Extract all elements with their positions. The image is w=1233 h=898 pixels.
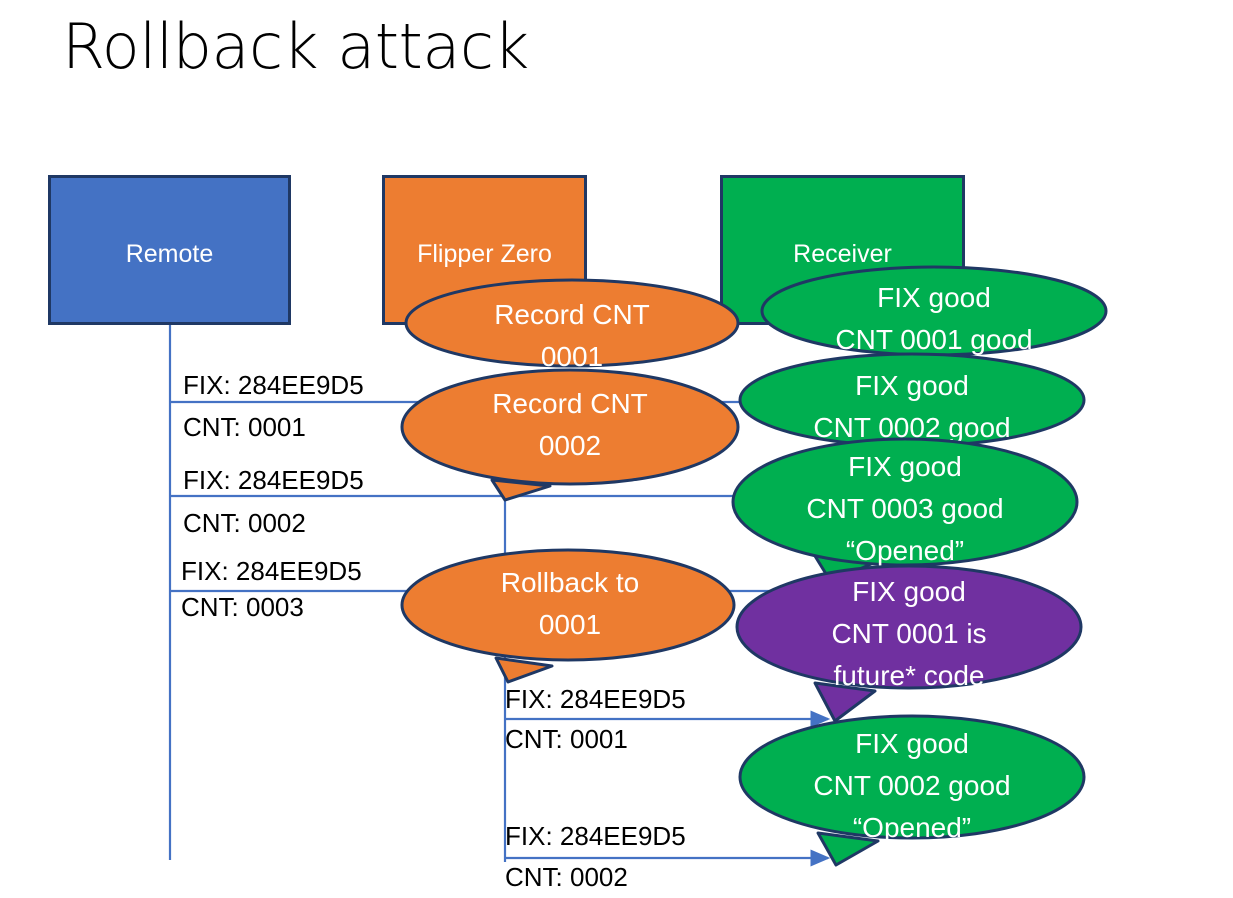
tx2-fix-label: FIX: 284EE9D5 xyxy=(183,465,364,496)
tx2-cnt-label: CNT: 0002 xyxy=(183,508,306,539)
tx4-cnt-label: CNT: 0001 xyxy=(505,724,628,755)
callout-rollback-to-0001[interactable]: Rollback to 0001 xyxy=(400,548,740,688)
callout-receiver-future-code[interactable]: FIX good CNT 0001 is future* code xyxy=(735,565,1083,725)
tx3-cnt-label: CNT: 0003 xyxy=(181,592,304,623)
tx5-fix-label: FIX: 284EE9D5 xyxy=(505,821,686,852)
tx4-fix-label: FIX: 284EE9D5 xyxy=(505,684,686,715)
tx1-cnt-label: CNT: 0001 xyxy=(183,412,306,443)
callout-receiver-replay-cnt-0002-opened[interactable]: FIX good CNT 0002 good “Opened” xyxy=(738,715,1086,875)
callout-receiver-cnt-0001[interactable]: FIX good CNT 0001 good xyxy=(760,265,1108,357)
tx1-fix-label: FIX: 284EE9D5 xyxy=(183,370,364,401)
callout-receiver-cnt-0002[interactable]: FIX good CNT 0002 good xyxy=(738,352,1086,448)
callout-record-cnt-0002[interactable]: Record CNT 0002 xyxy=(400,368,740,504)
tx3-fix-label: FIX: 284EE9D5 xyxy=(181,556,362,587)
slide-canvas: Rollback attack Remote Flipper Zero Rece… xyxy=(0,0,1233,898)
tx5-cnt-label: CNT: 0002 xyxy=(505,862,628,893)
callout-record-cnt-0001[interactable]: Record CNT 0001 xyxy=(404,278,740,368)
